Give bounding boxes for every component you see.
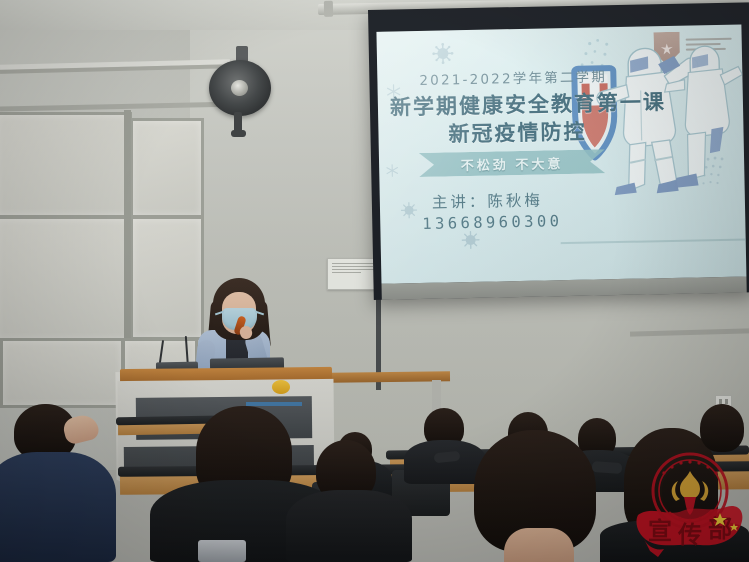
slide-ribbon-text: 不松劲 不大意 bbox=[419, 152, 605, 175]
snowflake-icon bbox=[385, 163, 399, 177]
virus-icon bbox=[460, 230, 480, 250]
whiteboard-divider bbox=[124, 110, 131, 342]
student-neck bbox=[504, 528, 574, 562]
lectern-indicator-strip bbox=[246, 402, 302, 406]
svg-text:宣: 宣 bbox=[648, 517, 672, 545]
slide-canvas: 2021-2022学年第二学期 新学期健康安全教育第一课 新冠疫情防控 不松劲 … bbox=[376, 25, 746, 284]
slide-title-line2: 新冠疫情防控 bbox=[448, 116, 587, 149]
whiteboard-panel-3 bbox=[130, 118, 204, 218]
desk-item-paper bbox=[198, 540, 246, 562]
virus-icon bbox=[400, 201, 418, 219]
slide-academic-year: 2021-2022学年第二学期 bbox=[419, 65, 607, 89]
whiteboard-panel-4 bbox=[130, 216, 204, 340]
desk-item bbox=[592, 461, 623, 474]
slide-speaker: 主讲：陈秋梅 bbox=[432, 189, 543, 213]
projection-screen: 2021-2022学年第二学期 新学期健康安全教育第一课 新冠疫情防控 不松劲 … bbox=[368, 2, 749, 300]
student-shoulders bbox=[0, 452, 116, 562]
whiteboard-panel-1 bbox=[0, 112, 132, 218]
classroom-photo: 2021-2022学年第二学期 新学期健康安全教育第一课 新冠疫情防控 不松劲 … bbox=[0, 0, 749, 562]
slide-phone: 13668960300 bbox=[422, 212, 562, 233]
whiteboard-panel-5 bbox=[0, 338, 124, 408]
virus-icon bbox=[432, 42, 454, 64]
svg-text:传: 传 bbox=[677, 521, 702, 549]
fan-hub-icon bbox=[231, 80, 248, 96]
whiteboard-panel-2 bbox=[0, 216, 132, 342]
student-shoulders bbox=[286, 490, 412, 562]
publicity-dept-watermark: 宣 传 部 bbox=[634, 447, 746, 559]
student-head bbox=[700, 404, 744, 452]
hair-clip bbox=[272, 380, 290, 394]
